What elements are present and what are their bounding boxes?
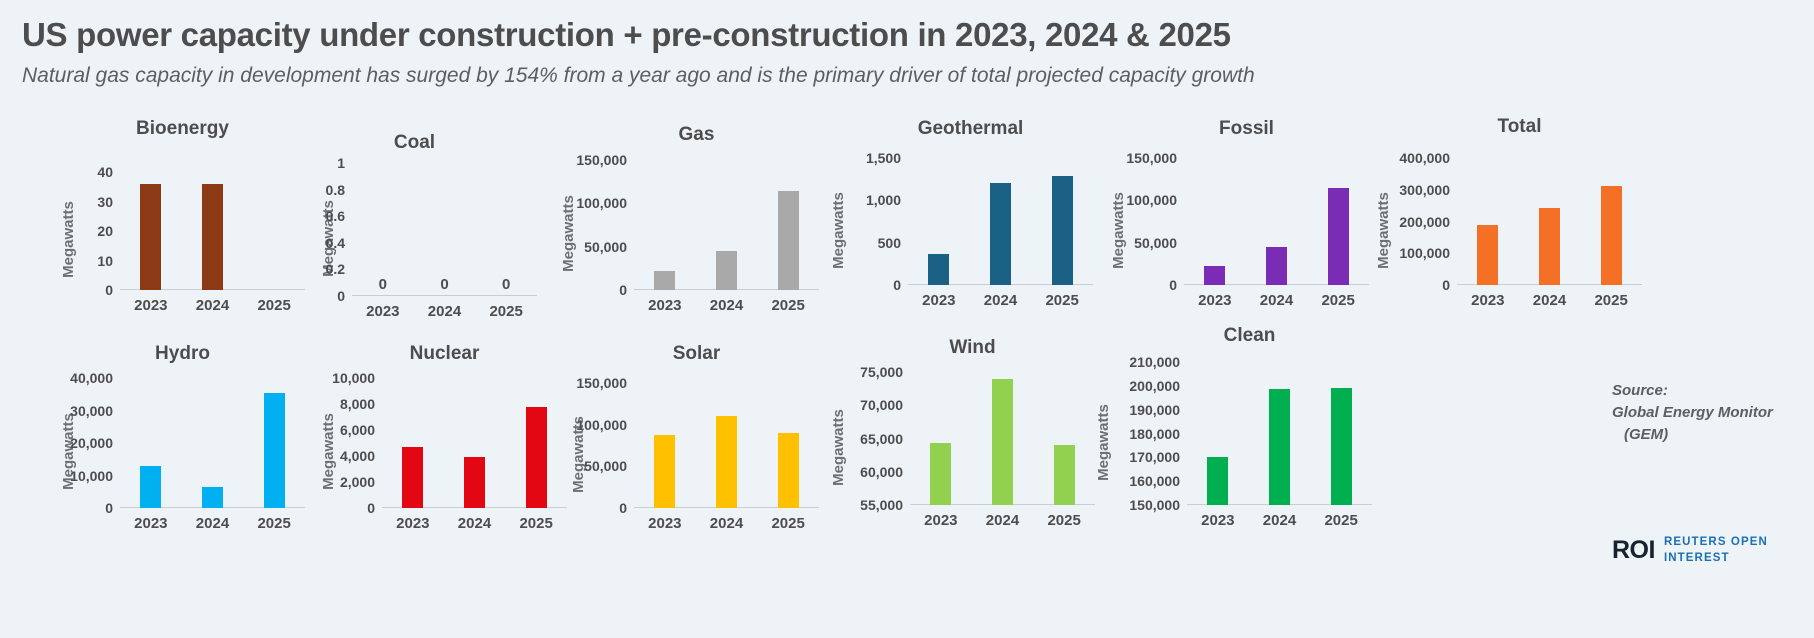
bar-2023	[654, 271, 675, 290]
y-tick-label: 2,000	[340, 474, 375, 490]
bar-2023	[930, 443, 951, 505]
y-tick-label: 1,000	[866, 192, 901, 208]
y-tick-label: 30	[97, 194, 113, 210]
chart-panel-solar: SolarMegawatts050,000100,000150,00020232…	[540, 343, 839, 548]
bar-2024	[464, 457, 485, 508]
panel-title: Gas	[574, 124, 819, 146]
y-tick-label: 100,000	[576, 195, 627, 211]
y-tick-label: 8,000	[340, 396, 375, 412]
roi-logo-line-2: INTEREST	[1664, 552, 1730, 564]
panel-title: Total	[1397, 116, 1642, 138]
plot-area: 050,000100,000150,000202320242025	[634, 383, 819, 508]
y-tick-label: 10,000	[70, 468, 113, 484]
bar-2023	[1204, 266, 1225, 285]
x-tick-label: 2023	[1457, 292, 1519, 309]
panel-title: Fossil	[1124, 118, 1369, 140]
bar-2025	[778, 433, 799, 508]
panel-title: Geothermal	[848, 118, 1093, 140]
y-tick-label: 30,000	[70, 403, 113, 419]
y-tick-label: 0	[1169, 277, 1177, 293]
x-tick-label: 2024	[696, 297, 758, 314]
plot-area: 010,00020,00030,00040,000202320242025	[120, 378, 305, 508]
bar-2025	[778, 191, 799, 290]
roi-logo-line-1: REUTERS OPEN	[1664, 536, 1768, 548]
panel-title: Bioenergy	[60, 118, 305, 140]
y-tick-label: 0	[619, 500, 627, 516]
y-tick-label: 10	[97, 253, 113, 269]
plot-area: 050,000100,000150,000202320242025	[1184, 158, 1369, 285]
y-tick-label: 20	[97, 223, 113, 239]
y-tick-label: 0	[1442, 277, 1450, 293]
x-tick-label: 2024	[444, 515, 506, 532]
x-tick-label: 2023	[634, 297, 696, 314]
bar-2024	[1266, 247, 1287, 285]
y-tick-label: 150,000	[1129, 497, 1180, 513]
y-tick-label: 200,000	[1399, 214, 1450, 230]
x-tick-label: 2023	[634, 515, 696, 532]
panel-title: Solar	[574, 343, 819, 365]
chart-panel-gas: GasMegawatts050,000100,000150,0002023202…	[530, 124, 839, 330]
chart-panel-fossil: FossilMegawatts050,000100,000150,0002023…	[1080, 118, 1389, 325]
bar-2024	[716, 416, 737, 509]
bar-2023	[140, 466, 161, 508]
bar-2024	[1539, 208, 1560, 285]
y-tick-label: 4,000	[340, 448, 375, 464]
x-tick-label: 2024	[1246, 292, 1308, 309]
source-line-2: Global Energy Monitor	[1612, 404, 1773, 421]
plot-area: 150,000160,000170,000180,000190,000200,0…	[1187, 362, 1372, 505]
y-tick-label: 60,000	[860, 464, 903, 480]
y-tick-label: 190,000	[1129, 402, 1180, 418]
y-axis-label: Megawatts	[30, 231, 62, 248]
y-axis-label: Megawatts	[800, 222, 850, 239]
x-tick-label: 2024	[1249, 512, 1311, 529]
source-line-3: (GEM)	[1612, 424, 1773, 446]
y-axis-label: Megawatts	[1065, 434, 1129, 451]
y-tick-label: 210,000	[1129, 354, 1180, 370]
y-tick-label: 40	[97, 164, 113, 180]
y-axis-label: Megawatts	[290, 443, 324, 460]
panel-title: Wind	[850, 337, 1095, 359]
y-tick-label: 170,000	[1129, 449, 1180, 465]
y-tick-label: 75,000	[860, 364, 903, 380]
y-axis-label: Megawatts	[30, 443, 62, 460]
y-tick-label: 100,000	[576, 417, 627, 433]
chart-panel-coal: CoalMegawatts00.20.40.60.810202302024020…	[290, 132, 557, 336]
roi-logo-text: REUTERS OPEN INTEREST	[1664, 535, 1768, 566]
panel-title: Hydro	[60, 343, 305, 365]
bar-value-label: 0	[414, 276, 476, 293]
y-tick-label: 500	[878, 235, 901, 251]
y-axis-label: Megawatts	[1080, 222, 1126, 239]
page-subtitle: Natural gas capacity in development has …	[22, 64, 1255, 88]
y-tick-label: 1	[337, 155, 345, 171]
plot-area: 0100,000200,000300,000400,00020232024202…	[1457, 158, 1642, 285]
plot-area: 050,000100,000150,000202320242025	[634, 160, 819, 290]
panel-title: Clean	[1127, 325, 1372, 347]
bar-2024	[992, 379, 1013, 505]
chart-panel-total: TotalMegawatts0100,000200,000300,000400,…	[1345, 116, 1662, 325]
y-tick-label: 0	[105, 282, 113, 298]
roi-logo-mark: ROI	[1612, 536, 1655, 565]
y-tick-label: 0	[893, 277, 901, 293]
y-tick-label: 0.8	[326, 182, 345, 198]
x-tick-label: 2025	[475, 303, 537, 320]
bar-2025	[1052, 176, 1073, 285]
page-title: US power capacity under construction + p…	[22, 16, 1231, 54]
y-tick-label: 0.6	[326, 208, 345, 224]
bar-2024	[202, 184, 223, 290]
y-axis-label: Megawatts	[800, 439, 852, 456]
source-note: Source: Global Energy Monitor (GEM)	[1612, 380, 1773, 445]
panel-title: Nuclear	[322, 343, 567, 365]
bar-2024	[716, 251, 737, 290]
plot-area: 010203040202320242025	[120, 172, 305, 290]
y-tick-label: 50,000	[584, 458, 627, 474]
x-tick-label: 2024	[182, 515, 244, 532]
x-tick-label: 2025	[1310, 512, 1372, 529]
x-tick-label: 2023	[1184, 292, 1246, 309]
bar-2024	[1269, 389, 1290, 505]
x-tick-label: 2023	[1187, 512, 1249, 529]
y-tick-label: 1,500	[866, 150, 901, 166]
chart-canvas: US power capacity under construction + p…	[0, 0, 1814, 638]
y-axis-label: Megawatts	[290, 230, 294, 247]
x-tick-label: 2024	[972, 512, 1034, 529]
y-tick-label: 50,000	[584, 239, 627, 255]
bar-2025	[1601, 186, 1622, 285]
reuters-open-interest-logo: ROI REUTERS OPEN INTEREST	[1612, 535, 1768, 566]
x-axis-line	[352, 295, 537, 296]
bar-2023	[654, 435, 675, 508]
y-tick-label: 400,000	[1399, 150, 1450, 166]
x-tick-label: 2024	[696, 515, 758, 532]
chart-panel-geothermal: GeothermalMegawatts05001,0001,5002023202…	[800, 118, 1113, 325]
y-tick-label: 100,000	[1126, 192, 1177, 208]
bar-value-label: 0	[475, 276, 537, 293]
x-tick-label: 2024	[414, 303, 476, 320]
plot-area: 00.20.40.60.81020230202402025	[352, 163, 537, 296]
x-tick-label: 2024	[970, 292, 1032, 309]
y-tick-label: 150,000	[576, 375, 627, 391]
bar-2025	[264, 393, 285, 508]
y-tick-label: 20,000	[70, 435, 113, 451]
bar-2023	[140, 184, 161, 290]
y-tick-label: 0	[619, 282, 627, 298]
bar-2023	[1477, 225, 1498, 285]
y-tick-label: 300,000	[1399, 182, 1450, 198]
y-tick-label: 10,000	[332, 370, 375, 386]
plot-area: 05001,0001,500202320242025	[908, 158, 1093, 285]
y-tick-label: 0	[105, 500, 113, 516]
x-tick-label: 2025	[1580, 292, 1642, 309]
y-axis-label: Megawatts	[530, 225, 576, 242]
x-tick-label: 2023	[120, 515, 182, 532]
chart-panel-hydro: HydroMegawatts010,00020,00030,00040,0002…	[30, 343, 325, 548]
x-tick-label: 2023	[120, 297, 182, 314]
y-tick-label: 0.4	[326, 235, 345, 251]
y-tick-label: 0	[367, 500, 375, 516]
bar-2023	[928, 254, 949, 285]
y-axis-label: Megawatts	[1345, 222, 1399, 239]
panel-title: Coal	[292, 132, 537, 154]
x-tick-label: 2023	[910, 512, 972, 529]
y-tick-label: 65,000	[860, 431, 903, 447]
y-tick-label: 180,000	[1129, 426, 1180, 442]
bar-2023	[402, 447, 423, 508]
source-line-1: Source:	[1612, 382, 1668, 399]
x-tick-label: 2024	[182, 297, 244, 314]
y-tick-label: 6,000	[340, 422, 375, 438]
y-tick-label: 150,000	[1126, 150, 1177, 166]
x-tick-label: 2023	[908, 292, 970, 309]
y-tick-label: 0.2	[326, 261, 345, 277]
y-tick-label: 160,000	[1129, 473, 1180, 489]
y-tick-label: 70,000	[860, 397, 903, 413]
x-tick-label: 2024	[1519, 292, 1581, 309]
bar-2023	[1207, 457, 1228, 505]
x-tick-label: 2023	[352, 303, 414, 320]
bar-2024	[202, 487, 223, 508]
y-tick-label: 200,000	[1129, 378, 1180, 394]
x-tick-label: 2023	[382, 515, 444, 532]
y-axis-label: Megawatts	[540, 446, 576, 463]
bar-2025	[1331, 388, 1352, 505]
y-tick-label: 50,000	[1134, 235, 1177, 251]
y-tick-label: 40,000	[70, 370, 113, 386]
bar-value-label: 0	[352, 276, 414, 293]
y-tick-label: 100,000	[1399, 245, 1450, 261]
bar-2024	[990, 183, 1011, 285]
chart-panel-clean: CleanMegawatts150,000160,000170,000180,0…	[1065, 325, 1392, 545]
chart-panel-bioenergy: BioenergyMegawatts010203040202320242025	[30, 118, 325, 330]
y-tick-label: 0	[337, 288, 345, 304]
y-tick-label: 55,000	[860, 497, 903, 513]
y-tick-label: 150,000	[576, 152, 627, 168]
